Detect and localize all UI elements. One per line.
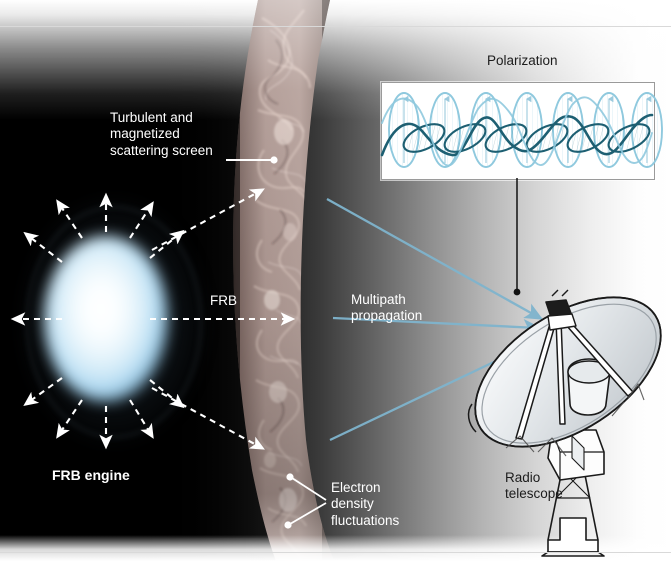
frb-diagram: Turbulent and magnetized scattering scre… (0, 0, 671, 561)
label-multipath-propagation: Multipath propagation (351, 292, 422, 325)
frame-bottom-line (0, 552, 671, 553)
leader-scattering-screen (226, 156, 278, 163)
label-radio-telescope: Radio telescope (505, 470, 563, 503)
leader-electron-density (284, 473, 326, 528)
label-electron-density: Electron density fluctuations (331, 480, 399, 529)
frame-top-line (0, 26, 671, 27)
label-frb-engine: FRB engine (52, 467, 130, 484)
label-polarization: Polarization (487, 53, 558, 69)
label-scattering-screen: Turbulent and magnetized scattering scre… (110, 110, 213, 159)
label-frb: FRB (210, 293, 237, 309)
